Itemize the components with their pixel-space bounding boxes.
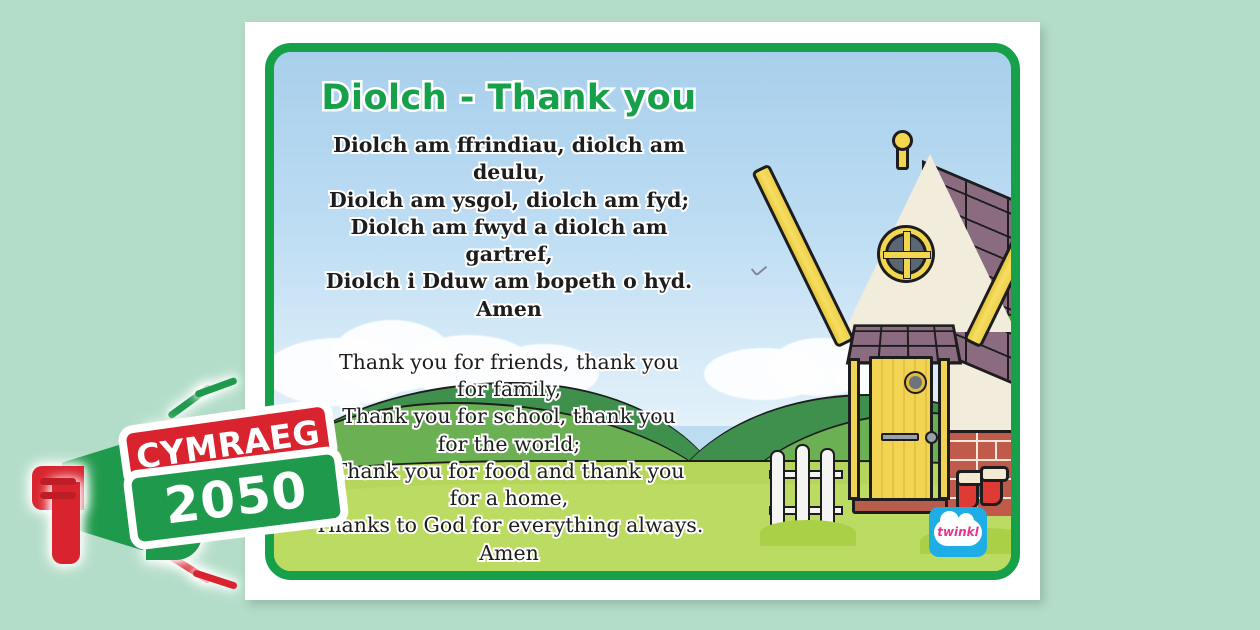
welsh-line: Diolch am ffrindiau, diolch am [288, 132, 730, 159]
fence-picket [795, 444, 810, 530]
porch-post [938, 358, 950, 500]
welsh-line: Amen [288, 296, 730, 323]
megaphone-vent-line [40, 478, 76, 485]
letterbox-icon [881, 433, 919, 441]
twinkl-cloud-icon: twinkl [934, 519, 982, 546]
english-line: Thank you for friends, thank you [288, 349, 730, 376]
welsh-line: Diolch am fwyd a diolch am [288, 214, 730, 241]
welsh-line: deulu, [288, 159, 730, 186]
round-gable-window [880, 228, 932, 280]
cymraeg-2050-badge: CYMRAEG 2050 [18, 382, 378, 612]
welsh-line: Diolch am ysgol, diolch am fyd; [288, 187, 730, 214]
twinkl-logo[interactable]: twinkl [929, 507, 987, 557]
page-title: Diolch - Thank you [288, 78, 730, 118]
welsh-line: gartref, [288, 241, 730, 268]
welsh-line: Diolch i Dduw am bopeth o hyd. [288, 268, 730, 295]
sound-ray-icon [192, 569, 238, 590]
twinkl-wordmark: twinkl [934, 525, 982, 539]
roof-finial-ball [892, 130, 913, 151]
grass-tuft [760, 520, 856, 546]
wellington-boot-icon [980, 466, 1003, 506]
cottage-house [814, 130, 1011, 550]
welsh-verse: Diolch am ffrindiau, diolch am deulu, Di… [288, 132, 730, 323]
front-door [869, 356, 933, 502]
porch-post [848, 358, 860, 500]
door-knob-icon [925, 431, 938, 444]
wellington-boot-icon [956, 470, 979, 510]
poster-frame: Diolch - Thank you Diolch am ffrindiau, … [265, 43, 1020, 580]
sound-ray-icon [194, 377, 238, 399]
megaphone-vent-line [40, 492, 76, 499]
door-window-icon [906, 373, 925, 392]
